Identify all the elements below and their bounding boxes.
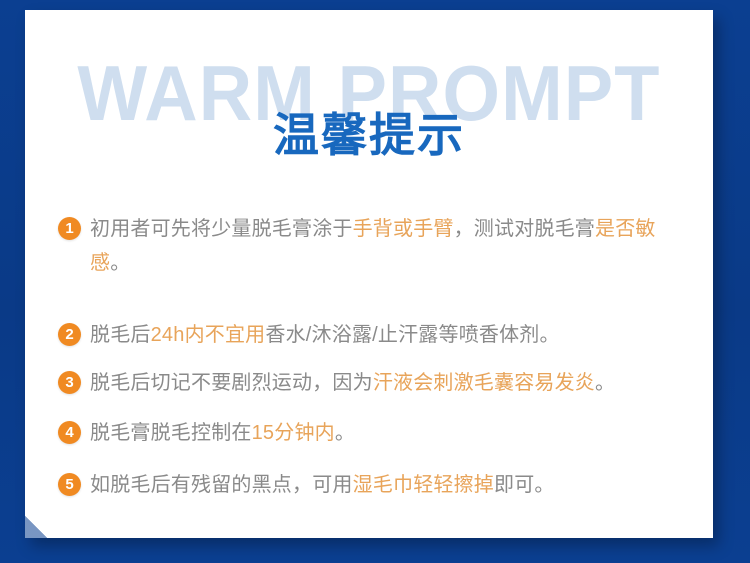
highlighted-text: 湿毛巾轻轻擦掉 xyxy=(353,474,494,496)
tip-text: 脱毛膏脱毛控制在15分钟内。 xyxy=(90,416,355,450)
list-item: 5 如脱毛后有残留的黑点，可用湿毛巾轻轻擦掉即可。 xyxy=(58,468,693,502)
plain-text: 即可。 xyxy=(494,474,555,496)
card-header: WARM PROMPT 温馨提示 xyxy=(25,10,713,185)
page-title: 温馨提示 xyxy=(25,110,713,161)
tips-list: 1 初用者可先将少量脱毛膏涂于手背或手臂，测试对脱毛膏是否敏感。 2 脱毛后24… xyxy=(25,212,713,502)
highlighted-text: 手背或手臂 xyxy=(353,218,454,240)
poster-background: WARM PROMPT 温馨提示 1 初用者可先将少量脱毛膏涂于手背或手臂，测试… xyxy=(0,0,750,563)
tip-text: 脱毛后24h内不宜用香水/沐浴露/止汗露等喷香体剂。 xyxy=(90,318,560,352)
number-badge: 3 xyxy=(58,371,81,394)
plain-text: 脱毛后切记不要剧烈运动，因为 xyxy=(90,372,373,394)
plain-text: ，测试对脱毛膏 xyxy=(454,218,595,240)
plain-text: 香水/沐浴露/止汗露等喷香体剂。 xyxy=(265,324,559,346)
number-badge: 1 xyxy=(58,217,81,240)
plain-text: 。 xyxy=(110,252,130,274)
plain-text: 如脱毛后有残留的黑点，可用 xyxy=(90,474,353,496)
number-badge: 5 xyxy=(58,473,81,496)
number-badge: 4 xyxy=(58,421,81,444)
list-item: 3 脱毛后切记不要剧烈运动，因为汗液会刺激毛囊容易发炎。 xyxy=(58,366,693,400)
highlighted-text: 24h内不宜用 xyxy=(151,324,266,346)
highlighted-text: 15分钟内 xyxy=(252,422,335,444)
tips-card: WARM PROMPT 温馨提示 1 初用者可先将少量脱毛膏涂于手背或手臂，测试… xyxy=(25,10,713,538)
tip-text: 如脱毛后有残留的黑点，可用湿毛巾轻轻擦掉即可。 xyxy=(90,468,555,502)
highlighted-text: 汗液会刺激毛囊容易发炎 xyxy=(373,372,595,394)
tip-text: 初用者可先将少量脱毛膏涂于手背或手臂，测试对脱毛膏是否敏感。 xyxy=(90,212,693,280)
plain-text: 。 xyxy=(335,422,355,444)
list-item: 4 脱毛膏脱毛控制在15分钟内。 xyxy=(58,416,693,450)
list-item: 2 脱毛后24h内不宜用香水/沐浴露/止汗露等喷香体剂。 xyxy=(58,318,693,352)
plain-text: 脱毛膏脱毛控制在 xyxy=(90,422,252,444)
plain-text: 脱毛后 xyxy=(90,324,151,346)
corner-shadow xyxy=(25,516,47,538)
plain-text: 初用者可先将少量脱毛膏涂于 xyxy=(90,218,353,240)
list-item: 1 初用者可先将少量脱毛膏涂于手背或手臂，测试对脱毛膏是否敏感。 xyxy=(58,212,693,280)
plain-text: 。 xyxy=(595,372,615,394)
tip-text: 脱毛后切记不要剧烈运动，因为汗液会刺激毛囊容易发炎。 xyxy=(90,366,615,400)
number-badge: 2 xyxy=(58,323,81,346)
